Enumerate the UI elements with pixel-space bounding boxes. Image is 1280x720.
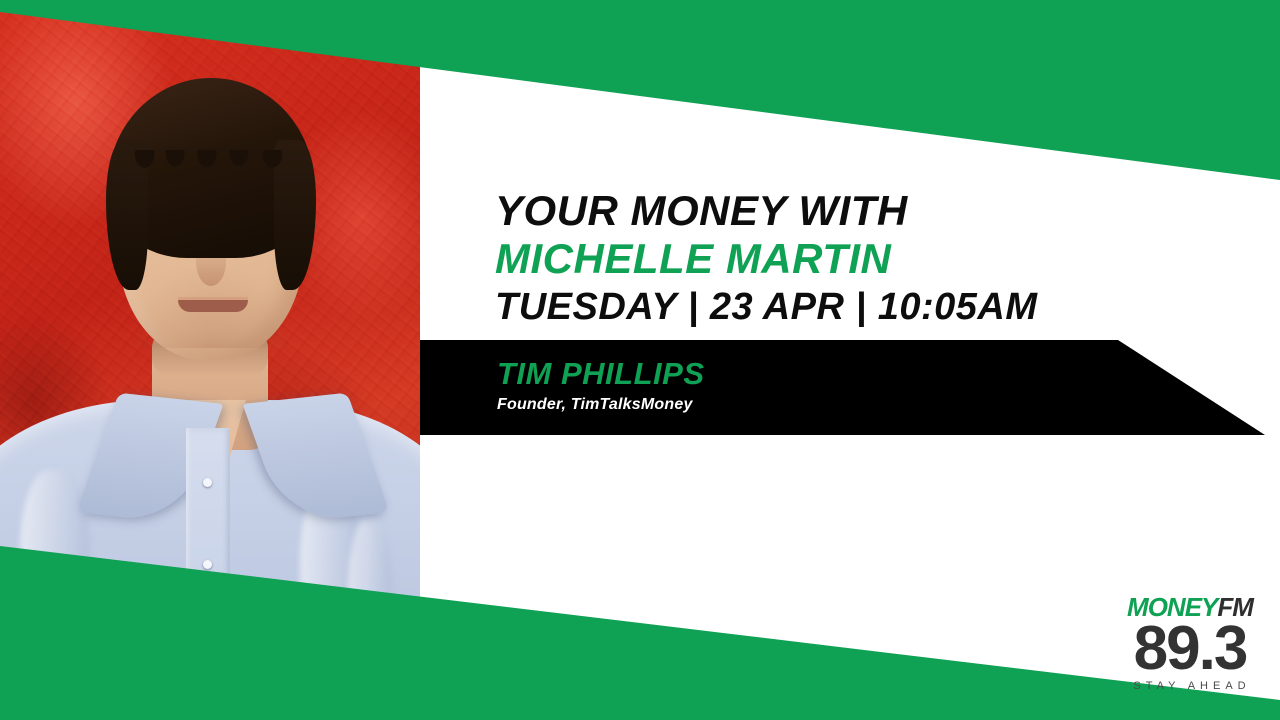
guest-name: TIM PHILLIPS <box>497 358 1117 391</box>
show-host-name: MICHELLE MARTIN <box>495 238 1135 280</box>
show-title-block: YOUR MONEY WITH MICHELLE MARTIN TUESDAY … <box>495 190 1135 326</box>
shirt-button <box>203 478 212 487</box>
mouth <box>178 300 248 312</box>
show-title-line1: YOUR MONEY WITH <box>495 190 1135 232</box>
guest-info: TIM PHILLIPS Founder, TimTalksMoney <box>497 358 1117 414</box>
shirt-button <box>203 560 212 569</box>
guest-role: Founder, TimTalksMoney <box>497 396 1117 414</box>
logo-tagline: STAY AHEAD <box>1114 681 1266 692</box>
hair-fringe <box>128 150 296 194</box>
promo-graphic: YOUR MONEY WITH MICHELLE MARTIN TUESDAY … <box>0 0 1280 720</box>
logo-frequency: 89.3 <box>1114 618 1266 680</box>
station-logo: MONEYFM 89.3 STAY AHEAD <box>1114 594 1266 692</box>
show-schedule: TUESDAY | 23 APR | 10:05AM <box>495 288 1135 326</box>
